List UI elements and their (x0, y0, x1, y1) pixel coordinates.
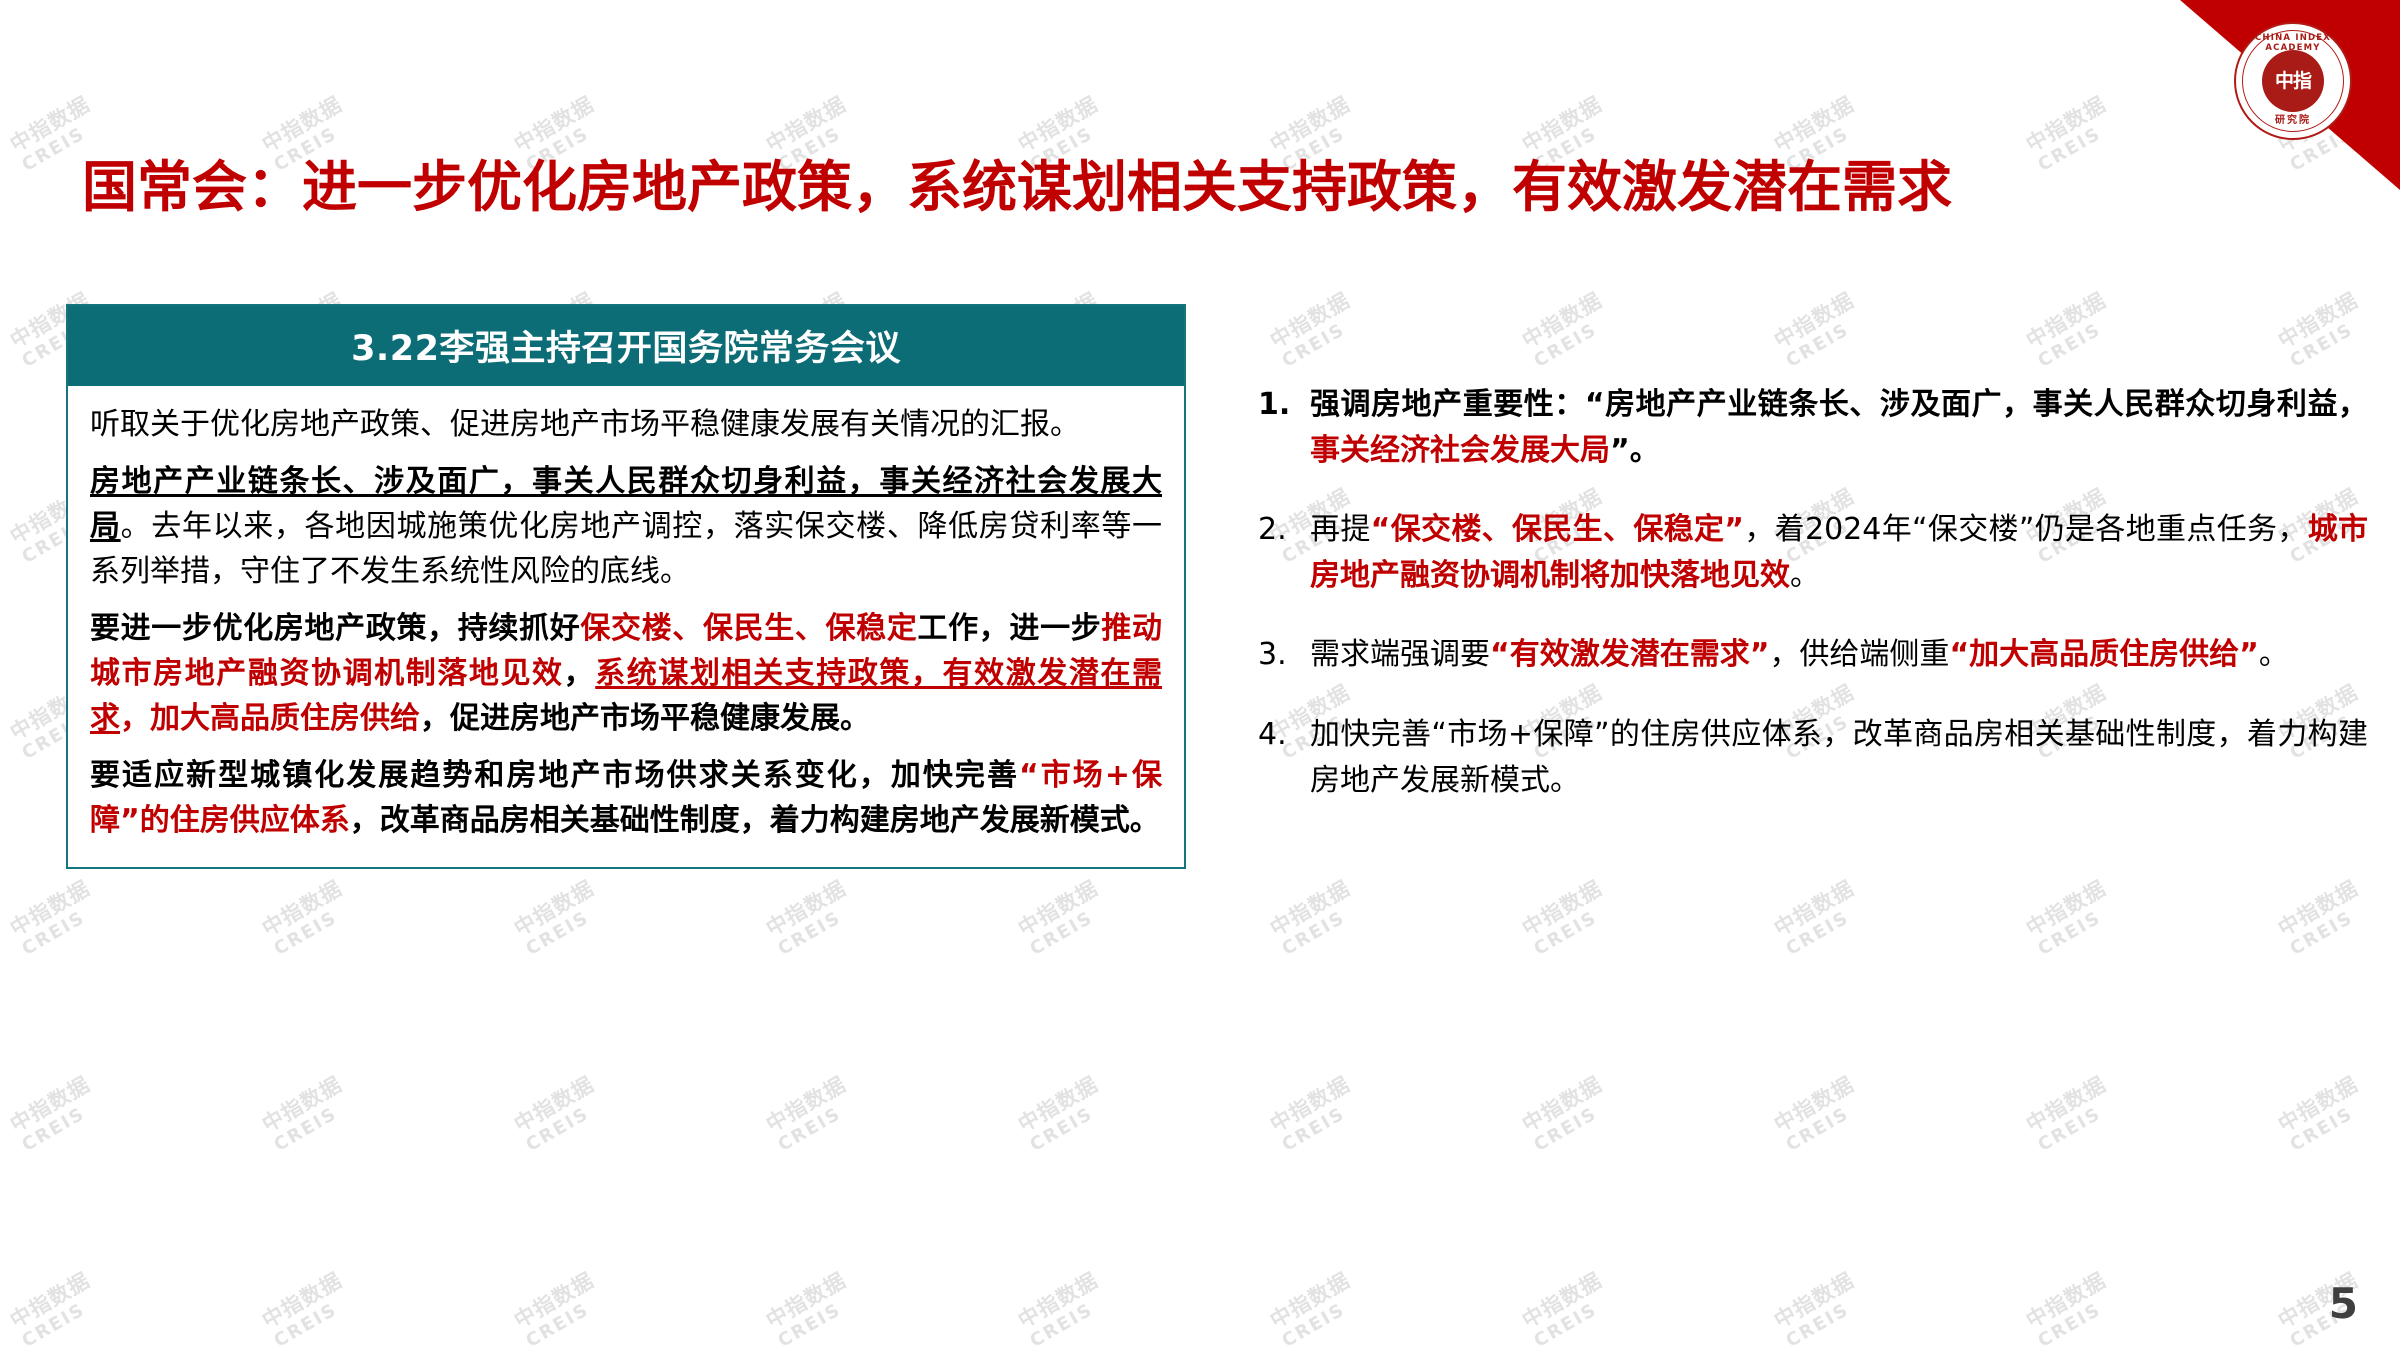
panel-p3-run-7: 加大高品质住房供给 (150, 701, 420, 736)
watermark-text: 中指数据CREIS (1014, 1268, 1113, 1350)
watermark-subtext: CREIS (1782, 1093, 1869, 1155)
watermark-subtext: CREIS (1530, 309, 1617, 371)
watermark-text: 中指数据CREIS (1770, 1072, 1869, 1156)
panel-body: 听取关于优化房地产政策、促进房地产市场平稳健康发展有关情况的汇报。房地产产业链条… (68, 386, 1184, 867)
watermark-subtext: CREIS (522, 1289, 609, 1350)
watermark-subtext: CREIS (2286, 309, 2373, 371)
list-item-2-run-1: “有效激发潜在需求” (1490, 637, 1769, 672)
list-item-body: 再提“保交楼、保民生、保稳定”，着2024年“保交楼”仍是各地重点任务，城市房地… (1310, 507, 2368, 598)
list-item-1-run-0: 再提 (1310, 512, 1371, 547)
watermark-text: 中指数据CREIS (1770, 876, 1869, 960)
watermark-subtext: CREIS (1278, 1289, 1365, 1350)
watermark-text: 中指数据CREIS (1518, 288, 1617, 372)
watermark-text: 中指数据CREIS (2274, 1268, 2373, 1350)
left-panel: 3.22李强主持召开国务院常务会议 听取关于优化房地产政策、促进房地产市场平稳健… (66, 304, 1186, 869)
watermark-subtext: CREIS (1530, 1093, 1617, 1155)
watermark-text: 中指数据CREIS (1014, 876, 1113, 960)
right-summary-list: 1.强调房地产重要性：“房地产产业链条长、涉及面广，事关人民群众切身利益，事关经… (1258, 382, 2368, 837)
list-item: 3.需求端强调要“有效激发潜在需求”，供给端侧重“加大高品质住房供给”。 (1258, 632, 2368, 678)
panel-p3-run-4: ， (564, 656, 596, 691)
watermark-subtext: CREIS (18, 1289, 105, 1350)
watermark-text: 中指数据CREIS (2022, 288, 2121, 372)
watermark-subtext: CREIS (1278, 897, 1365, 959)
watermark-text: 中指数据CREIS (2022, 1268, 2121, 1350)
watermark-subtext: CREIS (18, 897, 105, 959)
watermark-text: 中指数据CREIS (1770, 288, 1869, 372)
list-item-number: 4. (1258, 712, 1310, 803)
list-item: 1.强调房地产重要性：“房地产产业链条长、涉及面广，事关人民群众切身利益，事关经… (1258, 382, 2368, 473)
watermark-text: 中指数据CREIS (2274, 1072, 2373, 1156)
watermark-text: 中指数据CREIS (2274, 288, 2373, 372)
panel-p1-run-0: 听取关于优化房地产政策、促进房地产市场平稳健康发展有关情况的汇报。 (90, 407, 1080, 442)
watermark-text: 中指数据CREIS (1014, 1072, 1113, 1156)
watermark-text: 中指数据CREIS (1518, 876, 1617, 960)
watermark-subtext: CREIS (774, 1093, 861, 1155)
panel-p4-run-0: 要适应新型城镇化发展趋势和房地产市场供求关系变化，加快完善 (90, 758, 1019, 793)
watermark-subtext: CREIS (2034, 897, 2121, 959)
panel-p2-run-1: 。去年以来，各地因城施策优化房地产调控，落实保交楼、降低房贷利率等一系列举措，守… (90, 509, 1162, 589)
watermark-subtext: CREIS (270, 1093, 357, 1155)
logo-arc-bottom-label: 研究院 (2236, 111, 2350, 126)
watermark-subtext: CREIS (1530, 1289, 1617, 1350)
watermark-text: 中指数据CREIS (1266, 1072, 1365, 1156)
watermark-subtext: CREIS (270, 1289, 357, 1350)
list-item-body: 强调房地产重要性：“房地产产业链条长、涉及面广，事关人民群众切身利益，事关经济社… (1310, 382, 2368, 473)
panel-paragraph-p4: 要适应新型城镇化发展趋势和房地产市场供求关系变化，加快完善“市场+保障”的住房供… (90, 753, 1162, 843)
watermark-subtext: CREIS (270, 897, 357, 959)
list-item-2-run-0: 需求端强调要 (1310, 637, 1490, 672)
watermark-text: 中指数据CREIS (258, 1268, 357, 1350)
list-item-1-run-2: ，着2024年“保交楼”仍是各地重点任务， (1744, 512, 2308, 547)
watermark-subtext: CREIS (774, 897, 861, 959)
panel-p3-run-8: ，促进房地产市场平稳健康发展。 (420, 701, 870, 736)
page-number: 5 (2329, 1279, 2358, 1328)
watermark-subtext: CREIS (1026, 1093, 1113, 1155)
watermark-subtext: CREIS (1278, 309, 1365, 371)
watermark-subtext: CREIS (1026, 897, 1113, 959)
watermark-subtext: CREIS (1782, 1289, 1869, 1350)
watermark-text: 中指数据CREIS (1518, 1268, 1617, 1350)
slide-root: 中指数据CREIS中指数据CREIS中指数据CREIS中指数据CREIS中指数据… (0, 0, 2400, 1350)
watermark-text: 中指数据CREIS (258, 876, 357, 960)
panel-paragraph-p3: 要进一步优化房地产政策，持续抓好保交楼、保民生、保稳定工作，进一步推动城市房地产… (90, 606, 1162, 741)
watermark-text: 中指数据CREIS (2022, 876, 2121, 960)
watermark-text: 中指数据CREIS (2274, 876, 2373, 960)
panel-p3-run-1: 保交楼、保民生、保稳定 (580, 611, 917, 646)
watermark-subtext: CREIS (522, 1093, 609, 1155)
list-item-body: 加快完善“市场+保障”的住房供应体系，改革商品房相关基础性制度，着力构建房地产发… (1310, 712, 2368, 803)
list-item-2-run-4: 。 (2259, 637, 2289, 672)
watermark-text: 中指数据CREIS (510, 1072, 609, 1156)
panel-header-title: 3.22李强主持召开国务院常务会议 (68, 306, 1184, 386)
list-item-0-run-1: 事关经济社会发展大局 (1310, 433, 1610, 468)
watermark-subtext: CREIS (1278, 1093, 1365, 1155)
list-item-body: 需求端强调要“有效激发潜在需求”，供给端侧重“加大高品质住房供给”。 (1310, 632, 2368, 678)
watermark-text: 中指数据CREIS (6, 876, 105, 960)
watermark-text: 中指数据CREIS (1266, 1268, 1365, 1350)
watermark-text: 中指数据CREIS (762, 876, 861, 960)
watermark-text: 中指数据CREIS (510, 1268, 609, 1350)
watermark-subtext: CREIS (2034, 1289, 2121, 1350)
watermark-subtext: CREIS (2286, 1093, 2373, 1155)
watermark-text: 中指数据CREIS (258, 1072, 357, 1156)
panel-paragraph-p1: 听取关于优化房地产政策、促进房地产市场平稳健康发展有关情况的汇报。 (90, 402, 1162, 447)
watermark-subtext: CREIS (1782, 309, 1869, 371)
list-item-number: 3. (1258, 632, 1310, 678)
list-item: 2.再提“保交楼、保民生、保稳定”，着2024年“保交楼”仍是各地重点任务，城市… (1258, 507, 2368, 598)
panel-p3-run-6: ， (120, 701, 150, 736)
watermark-text: 中指数据CREIS (1266, 288, 1365, 372)
watermark-subtext: CREIS (1530, 897, 1617, 959)
watermark-subtext: CREIS (1026, 1289, 1113, 1350)
watermark-subtext: CREIS (774, 1289, 861, 1350)
watermark-subtext: CREIS (2034, 309, 2121, 371)
logo-core-label: 中指 (2262, 50, 2324, 112)
watermark-text: 中指数据CREIS (6, 1268, 105, 1350)
list-item-0-run-0: 强调房地产重要性：“房地产产业链条长、涉及面广，事关人民群众切身利益， (1310, 387, 2368, 422)
page-title: 国常会：进一步优化房地产政策，系统谋划相关支持政策，有效激发潜在需求 (82, 142, 1952, 222)
list-item: 4.加快完善“市场+保障”的住房供应体系，改革商品房相关基础性制度，着力构建房地… (1258, 712, 2368, 803)
list-item-2-run-2: ，供给端侧重 (1769, 637, 1949, 672)
watermark-text: 中指数据CREIS (1266, 876, 1365, 960)
list-item-1-run-4: 。 (1790, 558, 1820, 593)
watermark-text: 中指数据CREIS (1518, 1072, 1617, 1156)
china-index-academy-logo: CHINA INDEX ACADEMY 中指 研究院 (2234, 22, 2352, 140)
watermark-text: 中指数据CREIS (510, 876, 609, 960)
watermark-text: 中指数据CREIS (1770, 1268, 1869, 1350)
watermark-text: 中指数据CREIS (2022, 1072, 2121, 1156)
watermark-subtext: CREIS (18, 1093, 105, 1155)
panel-p3-run-2: 工作，进一步 (917, 611, 1101, 646)
list-item-3-run-0: 加快完善“市场+保障”的住房供应体系，改革商品房相关基础性制度，着力构建房地产发… (1310, 717, 2368, 798)
list-item-1-run-1: “保交楼、保民生、保稳定” (1371, 512, 1744, 547)
watermark-subtext: CREIS (2286, 897, 2373, 959)
watermark-text: 中指数据CREIS (762, 1072, 861, 1156)
watermark-text: 中指数据CREIS (762, 1268, 861, 1350)
watermark-subtext: CREIS (2034, 1093, 2121, 1155)
list-item-number: 2. (1258, 507, 1310, 598)
panel-p3-run-0: 要进一步优化房地产政策，持续抓好 (90, 611, 580, 646)
watermark-subtext: CREIS (1782, 897, 1869, 959)
list-item-number: 1. (1258, 382, 1310, 473)
panel-p4-run-2: ，改革商品房相关基础性制度，着力构建房地产发展新模式。 (350, 803, 1160, 838)
panel-paragraph-p2: 房地产产业链条长、涉及面广，事关人民群众切身利益，事关经济社会发展大局。去年以来… (90, 459, 1162, 594)
watermark-text: 中指数据CREIS (6, 1072, 105, 1156)
list-item-0-run-2: ”。 (1610, 433, 1660, 468)
watermark-subtext: CREIS (522, 897, 609, 959)
list-item-2-run-3: “加大高品质住房供给” (1949, 637, 2258, 672)
